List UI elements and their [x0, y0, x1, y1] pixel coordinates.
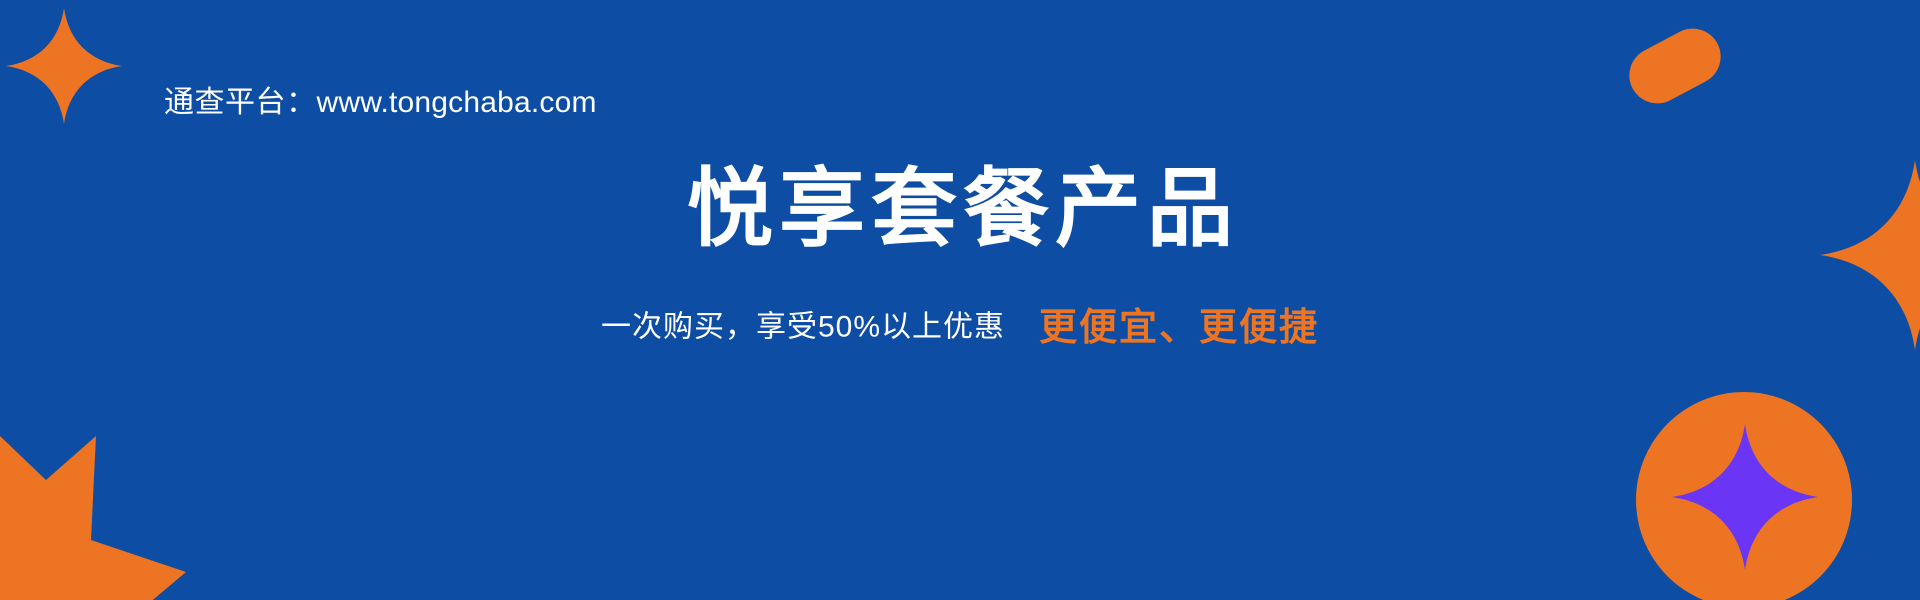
platform-url: www.tongchaba.com — [317, 86, 597, 119]
platform-label: 通查平台： — [164, 86, 317, 119]
promo-banner: 通查平台：www.tongchaba.com 悦享套餐产品 一次购买，享受50%… — [0, 0, 1920, 600]
platform-line: 通查平台：www.tongchaba.com — [164, 84, 597, 122]
page-title: 悦享套餐产品 — [0, 160, 1920, 259]
banner-subtitle: 一次购买，享受50%以上优惠更便宜、更便捷 — [0, 296, 1920, 351]
banner-content: 通查平台：www.tongchaba.com 悦享套餐产品 一次购买，享受50%… — [0, 0, 1920, 600]
subtitle-accent-text: 更便宜、更便捷 — [1039, 307, 1319, 349]
subtitle-plain-text: 一次购买，享受50%以上优惠 — [601, 311, 1005, 344]
